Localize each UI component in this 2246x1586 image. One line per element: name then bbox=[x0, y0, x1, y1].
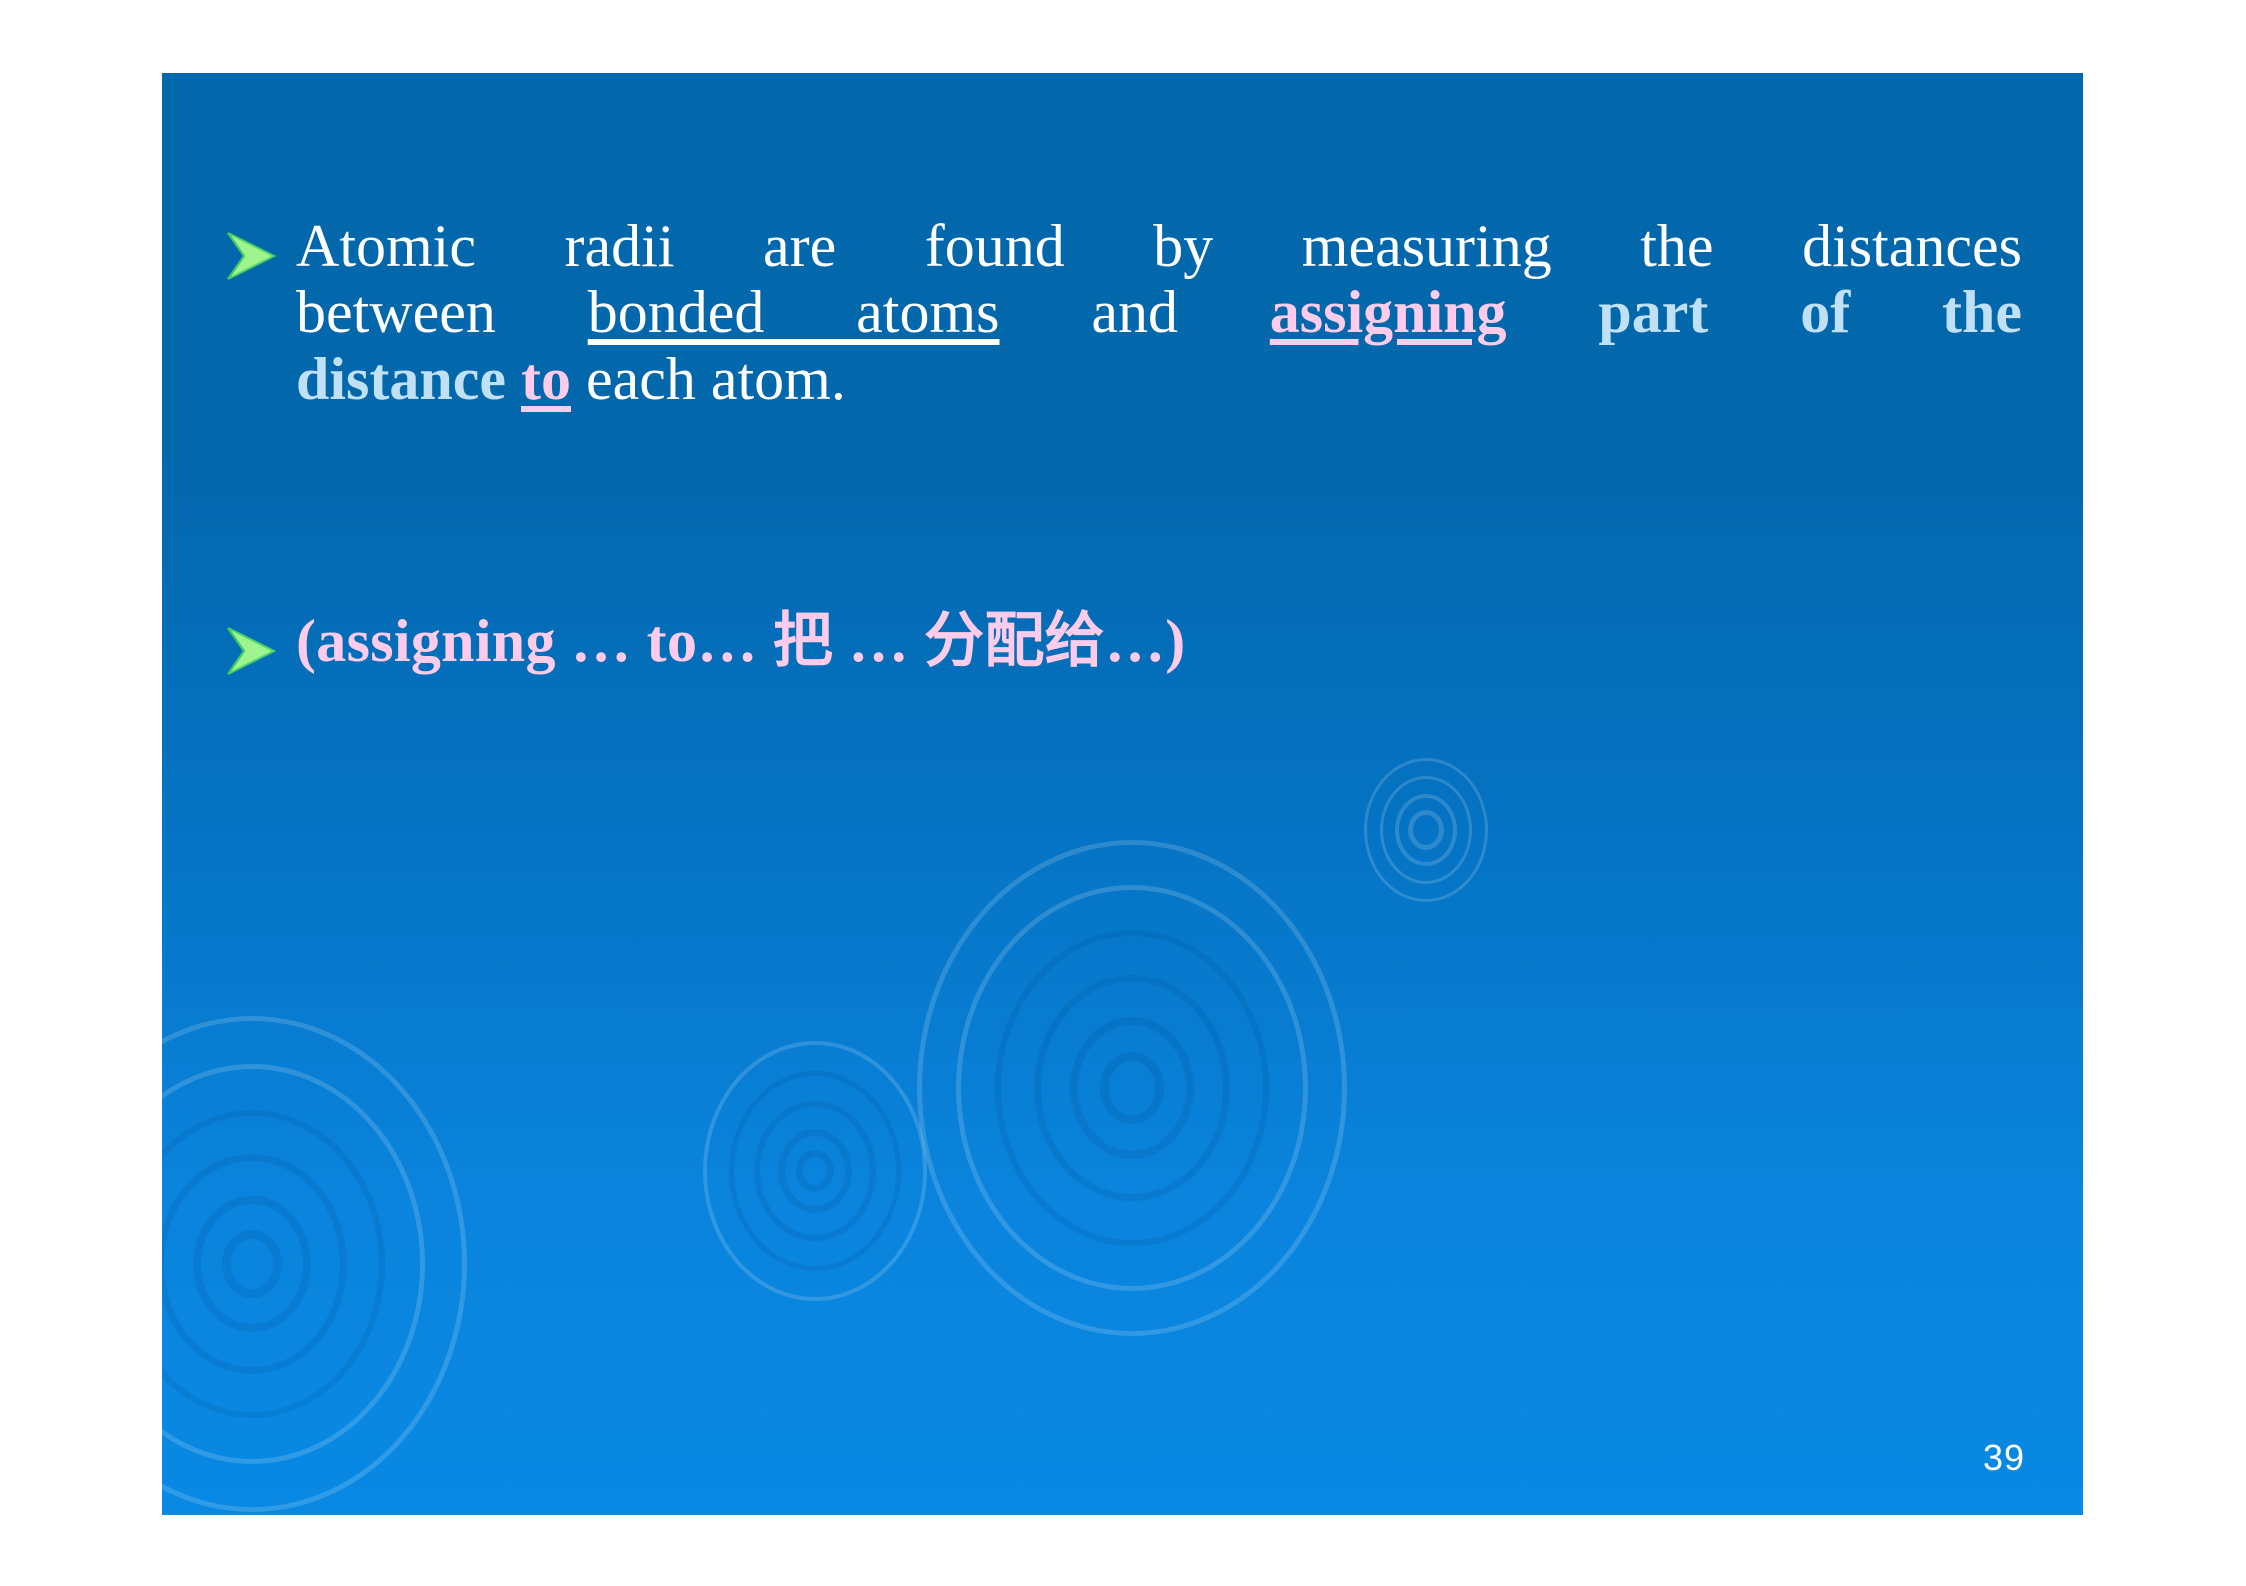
slide-body: Atomic radii are found by measuring the … bbox=[222, 213, 2022, 680]
text-run-to: to bbox=[521, 346, 571, 412]
slide-canvas: Atomic radii are found by measuring the … bbox=[162, 73, 2083, 1515]
ripple-decoration-small bbox=[707, 1045, 923, 1297]
green-arrow-bullet-icon bbox=[222, 608, 296, 680]
text-run-assigning-to-chinese: (assigning … to… 把 … 分配给…) bbox=[296, 608, 1186, 674]
bullet-1-line-2: between bonded atoms and assigning part … bbox=[296, 279, 2022, 345]
bullet-item-1: Atomic radii are found by measuring the … bbox=[222, 213, 2022, 412]
green-arrow-bullet-icon bbox=[222, 213, 296, 285]
bullet-item-2: (assigning … to… 把 … 分配给…) bbox=[222, 608, 2022, 680]
text-run-and: and bbox=[1000, 279, 1270, 345]
ripple-decoration-top-right bbox=[1367, 761, 1485, 899]
text-run-between: between bbox=[296, 279, 588, 345]
bullet-2-text: (assigning … to… 把 … 分配给…) bbox=[296, 608, 2022, 674]
text-run-assigning: assigning bbox=[1270, 279, 1507, 345]
ripple-decoration-bottom-left bbox=[162, 1021, 462, 1507]
text-run-part-of-the: part of the bbox=[1507, 279, 2022, 345]
bullet-1-line-1: Atomic radii are found by measuring the … bbox=[296, 213, 2022, 279]
text-run-bonded-atoms: bonded atoms bbox=[588, 279, 1000, 345]
text-run-line1: Atomic radii are found by measuring the … bbox=[296, 213, 2022, 279]
ripple-decoration-large bbox=[922, 845, 1342, 1331]
page-number: 39 bbox=[1983, 1437, 2025, 1479]
bullet-1-line-3: distance to each atom. bbox=[296, 346, 2022, 412]
bullet-1-text: Atomic radii are found by measuring the … bbox=[296, 213, 2022, 412]
text-run-distance: distance bbox=[296, 346, 521, 412]
text-run-each-atom: each atom. bbox=[571, 346, 846, 412]
